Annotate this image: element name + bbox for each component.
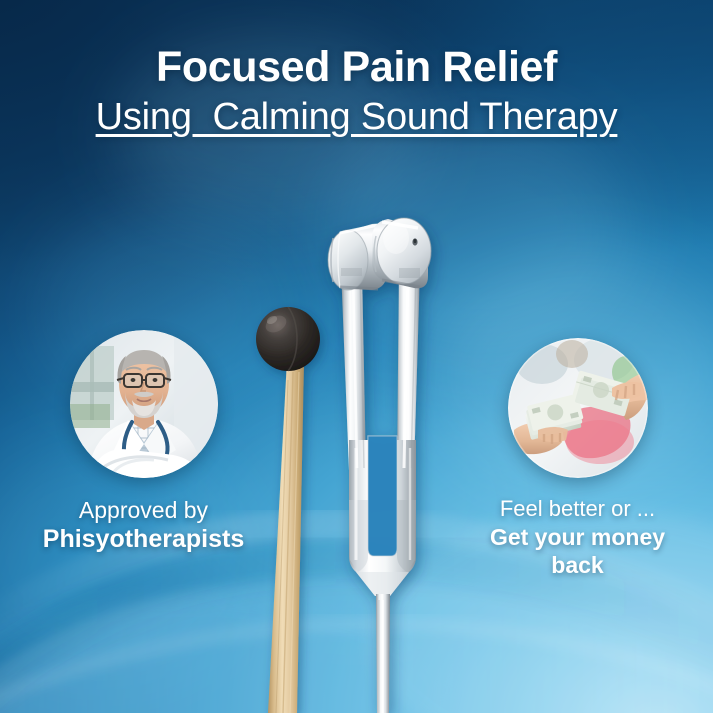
badge-left-caption: Approved by Phisyotherapists bbox=[36, 496, 251, 555]
badge-right-caption: Feel better or ... Get your money back bbox=[470, 496, 685, 579]
badge-left-caption-light: Approved by bbox=[36, 496, 251, 524]
badge-right-caption-bold-line1: Get your money bbox=[470, 523, 685, 551]
money-photo-circle bbox=[508, 338, 648, 478]
badge-right-caption-bold-line2: back bbox=[470, 551, 685, 579]
money-exchange-photo bbox=[508, 338, 648, 478]
doctor-photo-circle bbox=[70, 330, 218, 478]
advertisement-canvas: Focused Pain Relief Using Calming Sound … bbox=[0, 0, 713, 713]
subheadline-text: Using Calming Sound Therapy bbox=[0, 96, 713, 139]
badge-money-back-guarantee: Feel better or ... Get your money back bbox=[470, 338, 685, 579]
doctor-photo bbox=[70, 330, 218, 478]
badge-right-caption-light: Feel better or ... bbox=[470, 496, 685, 523]
headline-block: Focused Pain Relief Using Calming Sound … bbox=[0, 44, 713, 139]
headline-text: Focused Pain Relief bbox=[0, 44, 713, 90]
badge-left-caption-bold: Phisyotherapists bbox=[36, 524, 251, 555]
badge-approved-by-physiotherapists: Approved by Phisyotherapists bbox=[36, 330, 251, 555]
